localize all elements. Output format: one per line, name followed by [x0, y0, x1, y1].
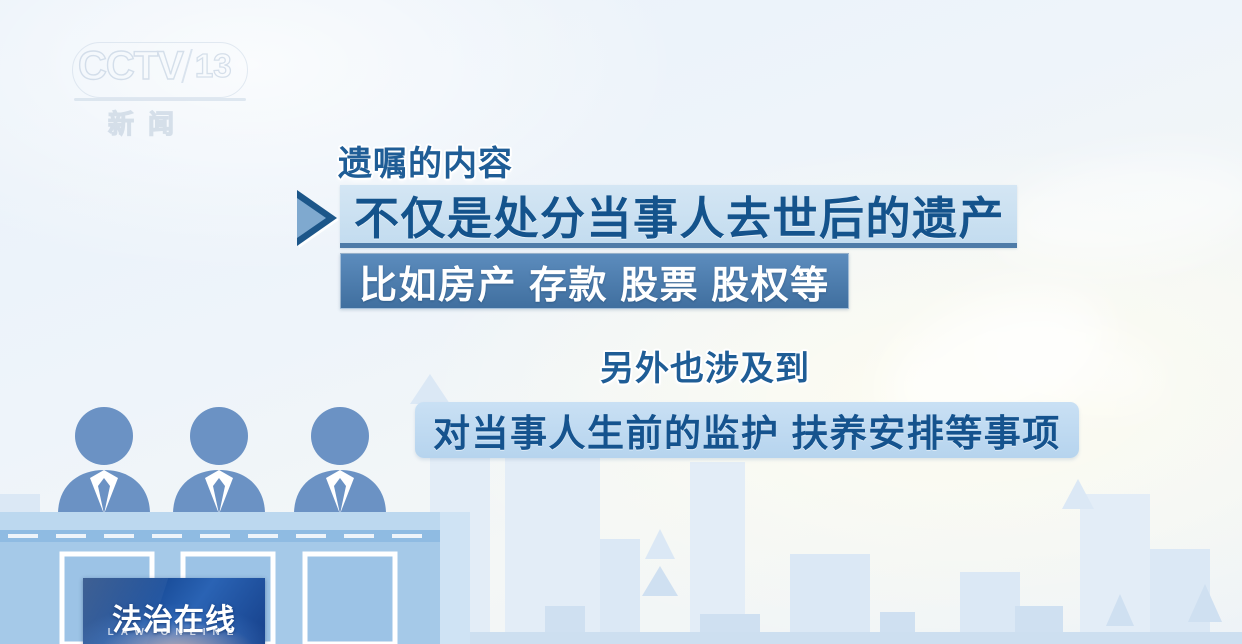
subtitle-banner-primary-1: 不仅是处分当事人去世后的遗产 [340, 185, 1017, 248]
cctv13-news-watermark: CCTV 13 新闻 [78, 46, 248, 138]
cctv-logo-subtitle: 新闻 [108, 104, 188, 141]
subtitle-banner-primary-2-text: 对当事人生前的监护 扶养安排等事项 [433, 403, 1061, 457]
program-logo-bug: 法治在线 LAW ONLINE [83, 578, 265, 644]
subtitle-banner-secondary-1-text: 比如房产 存款 股票 股权等 [359, 254, 830, 309]
play-arrow-icon [297, 190, 337, 246]
broadcast-frame: CCTV 13 新闻 遗嘱的内容 不仅是处分当事人去世后的遗产 比如房产 存款 … [0, 0, 1242, 644]
subtitle-banner-secondary-1: 比如房产 存款 股票 股权等 [340, 253, 849, 309]
figure-group [58, 407, 386, 514]
subtitle-lead-1: 遗嘱的内容 [338, 136, 513, 185]
subtitle-lead-2: 另外也涉及到 [600, 341, 810, 390]
subtitle-banner-primary-1-text: 不仅是处分当事人去世后的遗产 [354, 182, 1005, 247]
light-wisp [994, 142, 1242, 277]
program-title-en: LAW ONLINE [108, 627, 241, 638]
subtitle-banner-primary-2: 对当事人生前的监护 扶养安排等事项 [415, 402, 1079, 458]
logo-underbar [74, 98, 246, 101]
logo-oval [72, 42, 248, 98]
